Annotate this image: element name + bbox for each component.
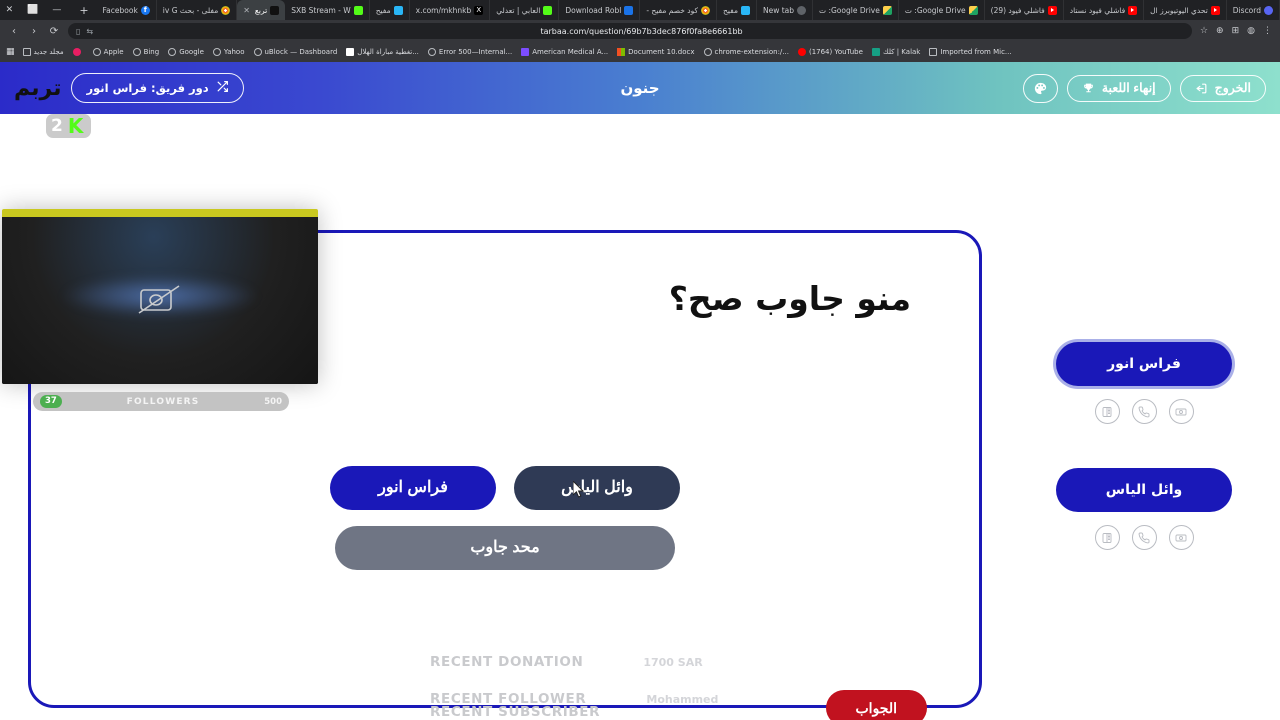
app-root: الخروج إنهاء اللعبة xyxy=(0,62,1280,720)
bookmark-item[interactable]: Apple xyxy=(93,48,124,56)
doc-bookmark-icon xyxy=(346,48,354,56)
team-card-firas: فراس انور xyxy=(1056,342,1232,424)
split-lifeline-icon[interactable] xyxy=(1095,399,1120,424)
split-lifeline-icon[interactable] xyxy=(1095,525,1120,550)
bookmark-item[interactable]: كلك | Kalak xyxy=(872,48,920,56)
extensions-icon[interactable]: ⊞ xyxy=(1232,26,1240,36)
bookmark-label: Imported from Mic... xyxy=(940,48,1011,56)
turn-label: دور فريق: فراس انور xyxy=(86,81,208,95)
follower-goal-count: 500 xyxy=(264,397,282,407)
kick-viewer-count: 2 xyxy=(51,118,63,135)
device-icon: ▯ xyxy=(76,27,80,36)
bookmarks-bar: ▦ مجلد جديدAppleBingGoogleYahoouBlock — … xyxy=(0,42,1280,62)
phone-lifeline-icon[interactable] xyxy=(1132,399,1157,424)
folder-bookmark-icon xyxy=(23,48,31,56)
answer-row-top: وائل الياس فراس انور xyxy=(330,466,680,510)
globe-bookmark-icon xyxy=(704,48,712,56)
browser-tab[interactable]: Xx.com/mkhnkb xyxy=(410,0,491,20)
bookmark-label: Bing xyxy=(144,48,160,56)
browser-tab-title: كود خصم مفيح - xyxy=(646,6,698,15)
browser-tab-title: العابي | تعدلي xyxy=(496,6,540,15)
browser-tab-title: Facebook xyxy=(103,6,138,15)
bookmark-item[interactable]: (1764) YouTube xyxy=(798,48,863,56)
browser-tab-title: SXB Stream - W xyxy=(291,6,350,15)
teal-favicon-icon xyxy=(741,6,750,15)
browser-tab[interactable]: مفلى - بحث iv G xyxy=(157,0,237,20)
green-favicon-icon xyxy=(354,6,363,15)
exit-button[interactable]: الخروج xyxy=(1180,75,1266,102)
team-name-firas[interactable]: فراس انور xyxy=(1056,342,1232,386)
answer-option-wael[interactable]: وائل الياس xyxy=(514,466,680,510)
recent-subscriber-label: RECENT SUBSCRIBER xyxy=(430,704,600,720)
globe-bookmark-icon xyxy=(133,48,141,56)
palette-icon xyxy=(1033,81,1048,96)
browser-tab[interactable]: مفيح xyxy=(717,0,757,20)
bookmark-item[interactable]: Document 10.docx xyxy=(617,48,694,56)
bookmark-label: Error 500—Internal... xyxy=(439,48,512,56)
back-icon[interactable]: ‹ xyxy=(8,26,20,37)
purple-bookmark-icon xyxy=(521,48,529,56)
blue-favicon-icon xyxy=(624,6,633,15)
browser-tab-title: مفلى - بحث iv G xyxy=(163,6,218,15)
answer-options: وائل الياس فراس انور محد جاوب xyxy=(31,466,979,570)
bookmark-item[interactable]: chrome-extension:/... xyxy=(704,48,789,56)
app-header: الخروج إنهاء اللعبة xyxy=(0,62,1280,114)
teams-panel: فراس انور xyxy=(1044,342,1244,550)
dark-favicon-icon xyxy=(270,6,279,15)
recent-donation-label: RECENT DONATION xyxy=(430,654,583,670)
red-bookmark-icon xyxy=(73,48,81,56)
image-lifeline-icon[interactable] xyxy=(1169,525,1194,550)
bookmark-label: uBlock — Dashboard xyxy=(265,48,338,56)
folder-bookmark-icon xyxy=(929,48,937,56)
browser-tab-title: تربع xyxy=(255,6,267,15)
browser-tab[interactable]: فاشلي فيود نستاد xyxy=(1064,0,1144,20)
ms-bookmark-icon xyxy=(617,48,625,56)
bookmark-label: Apple xyxy=(104,48,124,56)
trophy-icon xyxy=(1082,82,1095,95)
browser-tab[interactable]: Google Drive: ت xyxy=(813,0,899,20)
yt-favicon-icon xyxy=(1128,6,1137,15)
recent-donation-value: 1700 SAR xyxy=(643,656,702,669)
star-icon[interactable]: ☆ xyxy=(1200,26,1208,36)
webcam-frame xyxy=(2,209,318,384)
toolbar-right: ☆ ⊕ ⊞ ◍ ⋮ xyxy=(1200,26,1272,36)
green-favicon-icon xyxy=(543,6,552,15)
yt-favicon-icon xyxy=(1211,6,1220,15)
bookmark-item[interactable]: Bing xyxy=(133,48,160,56)
bookmark-label: American Medical A... xyxy=(532,48,608,56)
apps-grid-icon[interactable]: ▦ xyxy=(6,47,14,57)
phone-lifeline-icon[interactable] xyxy=(1132,525,1157,550)
browser-chrome: Discordتحدي اليوتيوبرز الفاشلي فيود نستا… xyxy=(0,0,1280,62)
bookmark-item[interactable]: مجلد جديد xyxy=(23,48,64,56)
browser-tab[interactable]: fFacebook xyxy=(97,0,157,20)
browser-tab-title: Download Robl xyxy=(565,6,621,15)
answer-option-nobody[interactable]: محد جاوب xyxy=(335,526,675,570)
share-icon: ⇆ xyxy=(86,27,93,36)
browser-tab[interactable]: تحدي اليوتيوبرز ال xyxy=(1144,0,1227,20)
turn-indicator[interactable]: دور فريق: فراس انور xyxy=(71,73,243,103)
bookmark-label: Document 10.docx xyxy=(628,48,694,56)
question-text: منو جاوب صح؟ xyxy=(669,279,911,318)
menu-icon[interactable]: ⋮ xyxy=(1263,26,1272,36)
follower-bar-label: FOLLOWERS xyxy=(127,397,200,407)
maximize-window-button[interactable]: ⬜ xyxy=(27,5,38,15)
bookmark-label: مجلد جديد xyxy=(34,48,64,56)
zoom-icon[interactable]: ⊕ xyxy=(1216,26,1224,36)
globe-bookmark-icon xyxy=(93,48,101,56)
browser-tab[interactable]: Discord xyxy=(1227,0,1280,20)
browser-tab[interactable]: Google Drive: ت xyxy=(899,0,985,20)
bookmark-item[interactable]: تغطية مباراة الهلال... xyxy=(346,48,419,56)
logout-icon xyxy=(1195,82,1208,95)
browser-tab[interactable]: كود خصم مفيح - xyxy=(640,0,717,20)
close-tab-icon[interactable]: ✕ xyxy=(243,6,250,15)
bookmark-item[interactable] xyxy=(73,48,84,56)
browser-toolbar: ‹ › ⟳ ▯ ⇆ tarbaa.com/question/69b7b3dec8… xyxy=(0,20,1280,42)
header-right: دور فريق: فراس انور تربم xyxy=(14,73,244,103)
browser-tab[interactable]: تربع✕ xyxy=(237,0,285,20)
follower-current-count: 37 xyxy=(40,395,62,408)
globe-bookmark-icon xyxy=(168,48,176,56)
forward-icon[interactable]: › xyxy=(28,26,40,37)
browser-tab-title: فاشلي فيود (29) xyxy=(991,6,1045,15)
profile-icon[interactable]: ◍ xyxy=(1247,26,1255,36)
theme-palette-button[interactable] xyxy=(1023,74,1058,103)
kalak-bookmark-icon xyxy=(872,48,880,56)
shield-favicon-icon xyxy=(797,6,806,15)
bookmark-item[interactable]: Google xyxy=(168,48,204,56)
browser-tab[interactable]: مفيح xyxy=(370,0,410,20)
yt-favicon-icon xyxy=(1048,6,1057,15)
browser-tab-title: مفيح xyxy=(723,6,738,15)
bookmark-label: (1764) YouTube xyxy=(809,48,863,56)
url-text: tarbaa.com/question/69b7b3dec876f0fa8e66… xyxy=(99,27,1184,36)
mouse-cursor xyxy=(573,481,585,503)
minimize-window-button[interactable]: — xyxy=(52,5,61,15)
team-name-wael[interactable]: وائل الياس xyxy=(1056,468,1232,512)
team-lifelines-wael xyxy=(1095,525,1194,550)
browser-tab[interactable]: فاشلي فيود (29) xyxy=(985,0,1064,20)
end-game-label: إنهاء اللعبة xyxy=(1102,82,1156,95)
browser-tab-title: New tab xyxy=(763,6,794,15)
browser-tab[interactable]: New tab xyxy=(757,0,813,20)
bookmark-label: chrome-extension:/... xyxy=(715,48,789,56)
browser-tab-title: مفيح xyxy=(376,6,391,15)
bookmark-item[interactable]: Imported from Mic... xyxy=(929,48,1011,56)
teal-favicon-icon xyxy=(394,6,403,15)
bookmark-item[interactable]: Yahoo xyxy=(213,48,245,56)
brand-logo[interactable]: تربم xyxy=(14,76,61,101)
follower-progress-bar: 37 FOLLOWERS 500 xyxy=(33,392,289,411)
team-card-wael: وائل الياس xyxy=(1056,468,1232,550)
chrome-favicon-icon xyxy=(701,6,710,15)
team-lifelines-firas xyxy=(1095,399,1194,424)
recent-donation-row: RECENT DONATION 1700 SAR xyxy=(430,654,703,670)
browser-tab-title: x.com/mkhnkb xyxy=(416,6,472,15)
browser-tab[interactable]: SXB Stream - W xyxy=(285,0,369,20)
address-bar[interactable]: ▯ ⇆ tarbaa.com/question/69b7b3dec876f0fa… xyxy=(68,23,1192,39)
bookmark-label: Google xyxy=(179,48,204,56)
tab-strip: Discordتحدي اليوتيوبرز الفاشلي فيود نستا… xyxy=(0,0,1280,20)
answer-option-firas[interactable]: فراس انور xyxy=(330,466,496,510)
kick-badge: K 2 xyxy=(46,114,91,138)
browser-tab-title: Discord xyxy=(1233,6,1261,15)
ytr-bookmark-icon xyxy=(798,48,806,56)
new-tab-button[interactable]: + xyxy=(71,0,96,20)
globe-bookmark-icon xyxy=(428,48,436,56)
exit-label: الخروج xyxy=(1215,82,1251,95)
close-window-button[interactable]: ✕ xyxy=(6,5,14,15)
bookmark-label: تغطية مباراة الهلال... xyxy=(357,48,419,56)
stream-overlay: K 2 37 FOLLOWERS 500 xyxy=(0,114,330,404)
browser-tab[interactable]: Download Robl xyxy=(559,0,640,20)
browser-tab-title: Google Drive: ت xyxy=(905,6,966,15)
shuffle-icon xyxy=(216,80,229,96)
bookmark-item[interactable]: American Medical A... xyxy=(521,48,608,56)
chrome-favicon-icon xyxy=(221,6,230,15)
browser-tab[interactable]: العابي | تعدلي xyxy=(490,0,559,20)
globe-bookmark-icon xyxy=(213,48,221,56)
browser-tab-title: Google Drive: ت xyxy=(819,6,880,15)
end-game-button[interactable]: إنهاء اللعبة xyxy=(1067,75,1171,102)
discord-favicon-icon xyxy=(1264,6,1273,15)
browser-tab-title: تحدي اليوتيوبرز ال xyxy=(1150,6,1208,15)
globe-bookmark-icon xyxy=(254,48,262,56)
browser-tab-title: فاشلي فيود نستاد xyxy=(1070,6,1125,15)
recent-subscriber-row: RECENT SUBSCRIBER xyxy=(430,704,660,720)
image-lifeline-icon[interactable] xyxy=(1169,399,1194,424)
gdrive-favicon-icon xyxy=(883,6,892,15)
header-left-actions: الخروج إنهاء اللعبة xyxy=(1023,74,1266,103)
gdrive-favicon-icon xyxy=(969,6,978,15)
kick-logo-icon: K xyxy=(68,116,84,136)
fb-favicon-icon: f xyxy=(141,6,150,15)
window-controls: —⬜✕ xyxy=(0,0,71,20)
bookmark-label: Yahoo xyxy=(224,48,245,56)
bookmark-item[interactable]: Error 500—Internal... xyxy=(428,48,512,56)
reload-icon[interactable]: ⟳ xyxy=(48,26,60,37)
bookmark-item[interactable]: uBlock — Dashboard xyxy=(254,48,338,56)
twitter-favicon-icon: X xyxy=(474,6,483,15)
camera-off-icon xyxy=(137,282,183,320)
reveal-answer-button[interactable]: الجواب xyxy=(826,690,928,720)
webcam-notch xyxy=(147,211,173,216)
bookmark-label: كلك | Kalak xyxy=(883,48,920,56)
